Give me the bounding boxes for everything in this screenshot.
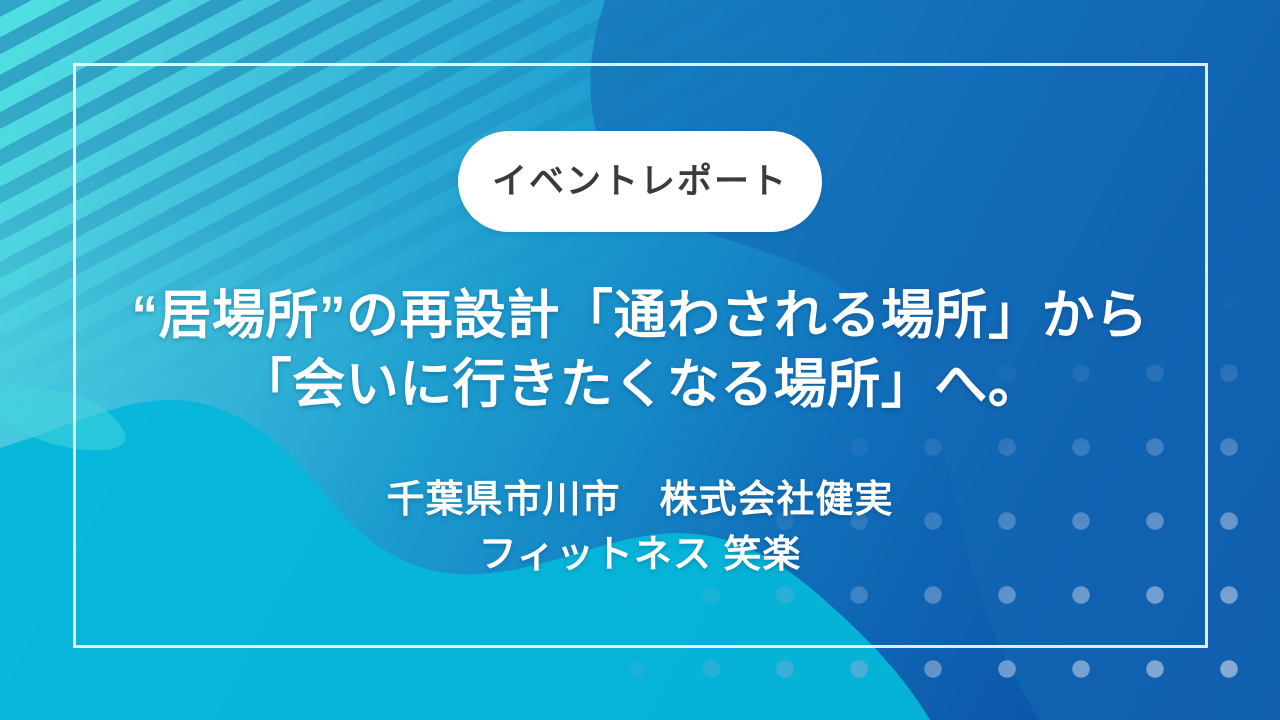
event-report-slide: イベントレポート “居場所”の再設計「通わされる場所」から 「会いに行きたくなる… — [0, 0, 1280, 720]
slide-subtitle-line-2: フィットネス 笑楽 — [85, 528, 1195, 583]
slide-title-line-2: 「会いに行きたくなる場所」へ。 — [85, 350, 1195, 419]
slide-title-line-1: “居場所”の再設計「通わされる場所」から — [85, 281, 1195, 350]
event-report-badge: イベントレポート — [458, 131, 822, 232]
slide-title: “居場所”の再設計「通わされる場所」から 「会いに行きたくなる場所」へ。 — [85, 281, 1195, 420]
slide-subtitle-line-1: 千葉県市川市 株式会社健実 — [85, 473, 1195, 528]
slide-content: イベントレポート “居場所”の再設計「通わされる場所」から 「会いに行きたくなる… — [0, 0, 1280, 720]
slide-subtitle: 千葉県市川市 株式会社健実 フィットネス 笑楽 — [85, 473, 1195, 583]
event-report-badge-label: イベントレポート — [492, 164, 788, 199]
